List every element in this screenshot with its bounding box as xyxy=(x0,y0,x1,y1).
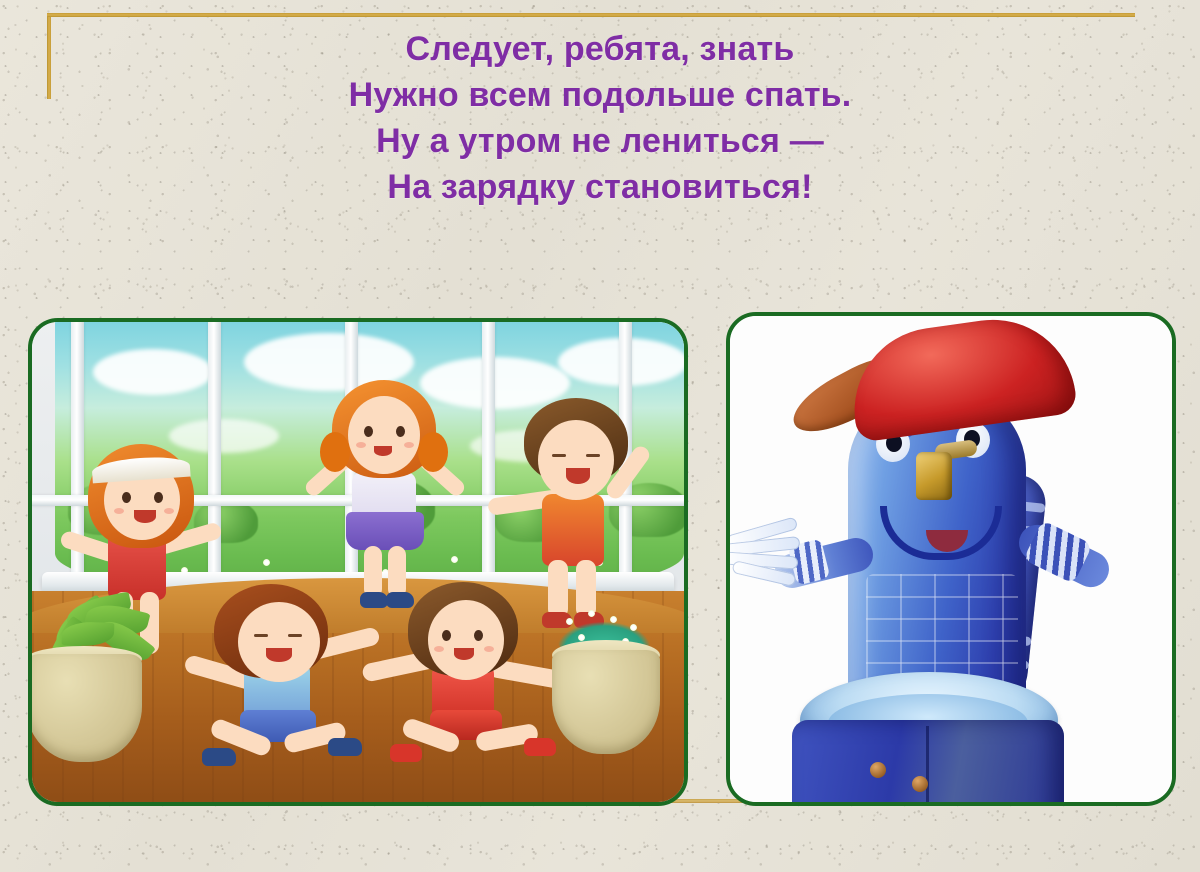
head xyxy=(238,602,320,682)
red-cap xyxy=(844,312,1078,443)
cabinet-knob-icon xyxy=(870,762,886,778)
head xyxy=(428,600,504,680)
faucet-nose-icon xyxy=(916,452,952,500)
heading-line-1: Следует, ребята, знать xyxy=(0,26,1200,72)
cabinet-knob-icon xyxy=(912,776,928,792)
flower-dot xyxy=(263,559,270,566)
eye xyxy=(396,426,405,437)
heading-line-2: Нужно всем подольше спать. xyxy=(0,72,1200,118)
cheek xyxy=(114,508,124,514)
washstand-scene xyxy=(730,316,1172,802)
cheek xyxy=(484,646,494,652)
mouth xyxy=(374,446,392,456)
flower-dot xyxy=(588,610,595,617)
mouth xyxy=(454,648,474,660)
eye xyxy=(122,492,131,503)
skirt xyxy=(346,512,424,550)
cloud-icon xyxy=(93,349,213,395)
eye xyxy=(474,630,483,641)
heading-line-4: На зарядку становиться! xyxy=(0,164,1200,210)
eye-closed xyxy=(288,634,302,637)
flower-pot xyxy=(28,654,142,762)
washstand-grille xyxy=(866,574,1018,686)
shoe xyxy=(328,738,362,756)
flower-dot xyxy=(578,634,585,641)
eye xyxy=(442,630,451,641)
cheek xyxy=(356,442,366,448)
head xyxy=(348,396,420,474)
flower-dot xyxy=(630,624,637,631)
cabinet-door-split xyxy=(926,726,929,806)
head xyxy=(538,420,614,500)
page-title: Следует, ребята, знать Нужно всем подоль… xyxy=(0,26,1200,210)
left-hand xyxy=(726,522,808,582)
gold-corner-bracket-horizontal xyxy=(47,13,1135,17)
eye xyxy=(364,426,373,437)
eye-closed xyxy=(552,454,566,457)
child-girl-pigtails xyxy=(304,380,464,606)
mouth xyxy=(266,648,292,662)
shoe xyxy=(202,748,236,766)
flower-pot xyxy=(552,650,660,754)
window-mullion xyxy=(482,322,495,581)
slide-root: Следует, ребята, знать Нужно всем подоль… xyxy=(0,0,1200,872)
moidodyr-image-panel xyxy=(726,312,1176,806)
torso xyxy=(542,494,604,566)
heading-line-3: Ну а утром не лениться — xyxy=(0,118,1200,164)
pigtail xyxy=(418,432,448,472)
flower-dot xyxy=(566,618,573,625)
eye-closed xyxy=(254,634,268,637)
mouth xyxy=(566,468,590,484)
cheek xyxy=(404,442,414,448)
exercise-scene xyxy=(32,322,684,802)
cheek xyxy=(434,646,444,652)
eye xyxy=(154,492,163,503)
pigtail xyxy=(320,432,350,472)
cheek xyxy=(164,508,174,514)
shoe xyxy=(524,738,556,756)
eye-closed xyxy=(586,454,600,457)
shoe xyxy=(390,744,422,762)
mouth xyxy=(134,510,156,523)
flower-dot xyxy=(610,616,617,623)
children-exercise-image-panel xyxy=(28,318,688,806)
